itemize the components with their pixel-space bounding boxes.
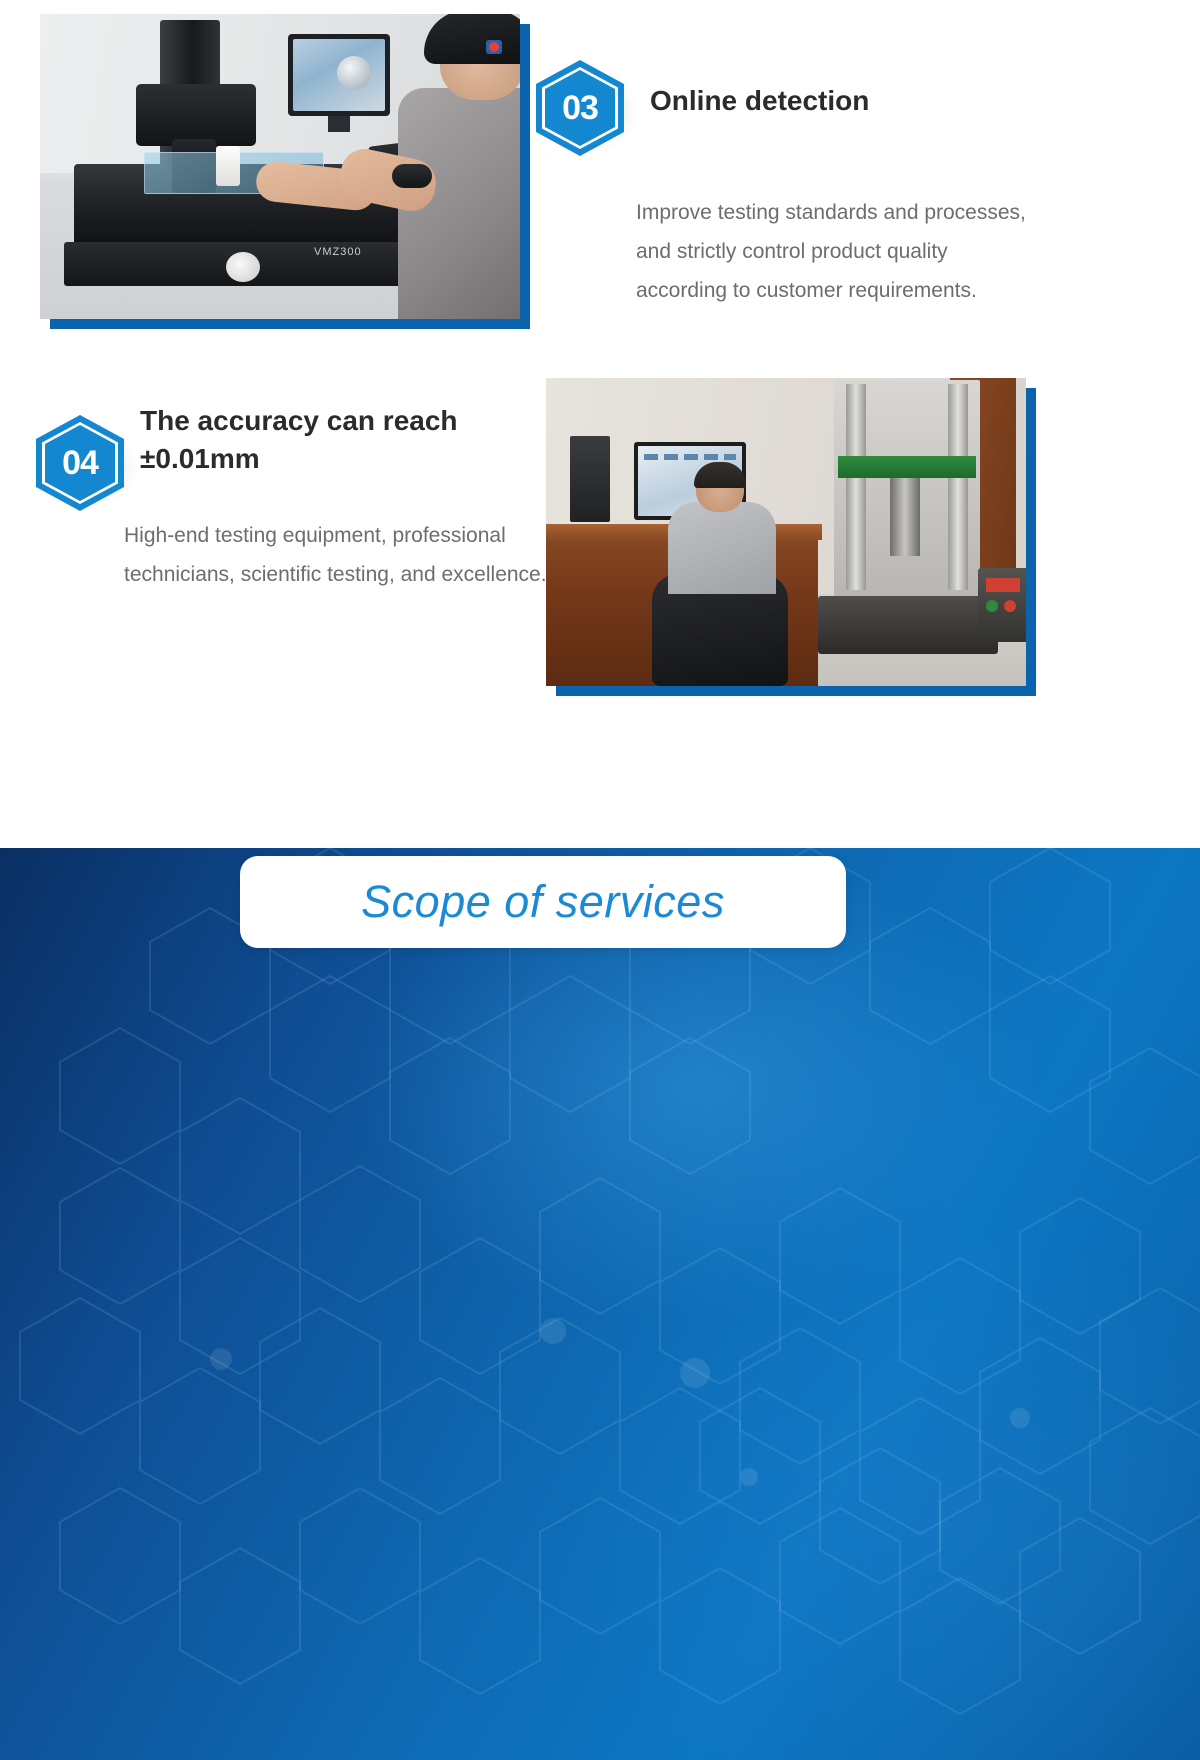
decor-dot xyxy=(210,1348,232,1370)
decor-dot xyxy=(1010,1408,1030,1428)
scope-title-card: Scope of services xyxy=(240,856,846,948)
photo-measuring-machine: VMZ300 xyxy=(40,14,520,319)
hex-badge-icon-03: 03 xyxy=(536,60,624,156)
scope-title: Scope of services xyxy=(361,876,725,928)
badge-number: 04 xyxy=(62,446,98,480)
decor-dot xyxy=(680,1358,710,1388)
scope-of-services-section: 01 CNC processing of engineering plastic… xyxy=(0,848,1200,1760)
decor-dot xyxy=(740,1468,758,1486)
machine-model-label: VMZ300 xyxy=(314,246,362,258)
badge-number: 03 xyxy=(562,91,598,125)
feature-title-04: The accuracy can reach ±0.01mm xyxy=(140,402,540,478)
feature-body-03: Improve testing standards and processes,… xyxy=(636,194,1026,311)
feature-title-03: Online detection xyxy=(650,82,1050,120)
decor-dot xyxy=(540,1318,566,1344)
page-root: VMZ300 03 Online d xyxy=(0,0,1200,1760)
hexagon-pattern-background xyxy=(0,848,1200,1760)
hex-badge-icon-04: 04 xyxy=(36,415,124,511)
photo-testing-lab xyxy=(546,378,1026,686)
features-section: VMZ300 03 Online d xyxy=(0,0,1200,848)
feature-body-04: High-end testing equipment, professional… xyxy=(124,517,564,595)
